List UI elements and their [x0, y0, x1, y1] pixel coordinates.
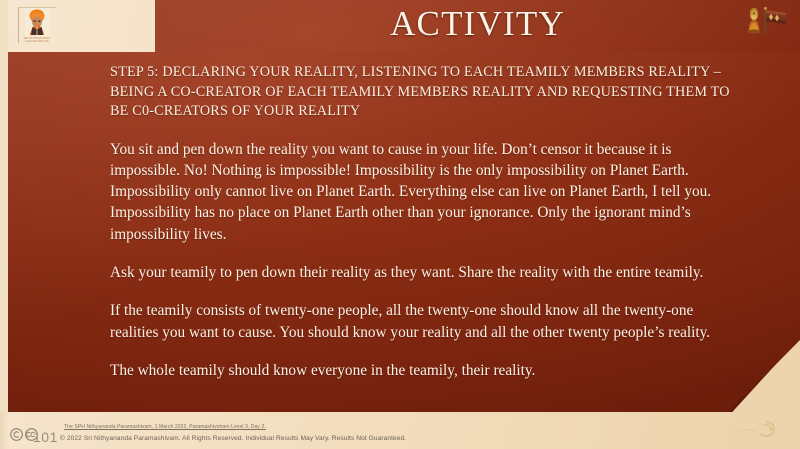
step-heading: STEP 5: DECLARING YOUR REALITY, LISTENIN…: [110, 63, 740, 122]
left-gutter: [0, 0, 8, 412]
slide-footer: 101 The SPH Nithyananda Paramashivam, 1 …: [0, 412, 800, 449]
copyright-notice: © 2022 Sri Nithyananda Paramashivam. All…: [60, 435, 406, 442]
slide-canvas: ACTIVITY SRI NITHYANANDA PARAMASHIVAM: [0, 0, 800, 449]
body-paragraph-3: If the teamily consists of twenty-one pe…: [110, 300, 740, 343]
title-band: ACTIVITY: [155, 0, 800, 52]
page-title: ACTIVITY: [390, 4, 565, 48]
page-number: 101: [33, 429, 58, 445]
deity-flag-icons: [742, 6, 788, 40]
body-paragraph-4: The whole teamily should know everyone i…: [110, 360, 740, 381]
copyleft-icon: [10, 428, 23, 441]
guru-portrait-badge: SRI NITHYANANDA PARAMASHIVAM: [18, 7, 56, 43]
organization-watermark-logo: [730, 416, 786, 444]
source-citation: The SPH Nithyananda Paramashivam, 1 Marc…: [64, 424, 266, 430]
portrait-frame: [18, 7, 56, 43]
body-paragraph-2: Ask your teamily to pen down their reali…: [110, 262, 740, 283]
deity-murti-icon: [742, 6, 788, 38]
slide-content: STEP 5: DECLARING YOUR REALITY, LISTENIN…: [110, 63, 740, 381]
body-paragraph-1: You sit and pen down the reality you wan…: [110, 139, 740, 245]
